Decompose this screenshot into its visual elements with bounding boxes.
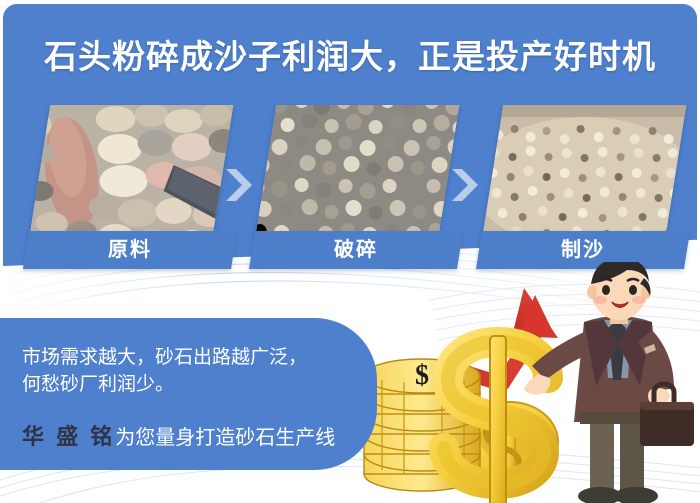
step-label-raw-material: 原料 (23, 231, 237, 269)
step-card-sand-making[interactable]: 制沙 (493, 105, 688, 270)
business-illustration: $ (352, 262, 700, 503)
process-steps: 原料 (0, 105, 700, 270)
crushed-gravel-photo (256, 105, 460, 235)
manufactured-sand-photo (483, 105, 687, 235)
page-title: 石头粉碎成沙子利润大，正是投产好时机 (0, 30, 700, 78)
step-card-raw-material[interactable]: 原料 (40, 105, 235, 270)
step-card-crushing[interactable]: 破碎 (266, 105, 461, 270)
step-label-text: 原料 (26, 231, 234, 269)
chevron-right-icon (224, 167, 254, 203)
poster-canvas: 石头粉碎成沙子利润大，正是投产好时机 (0, 0, 700, 503)
brand-line: 华 盛 铭为您量身打造砂石生产线 (22, 424, 335, 451)
svg-text:$: $ (415, 360, 429, 391)
dollar-sign-large (444, 336, 548, 503)
copy-line-2: 何愁砂厂利润少。 (22, 372, 174, 398)
copy-box: 市场需求越大，砂石出路越广泛， 何愁砂厂利润少。 华 盛 铭为您量身打造砂石生产… (0, 318, 377, 470)
brand-tagline: 为您量身打造砂石生产线 (115, 427, 335, 449)
raw-material-photo (30, 105, 234, 235)
chevron-right-icon (450, 167, 480, 203)
copy-line-1: 市场需求越大，砂石出路越广泛， (22, 345, 307, 371)
coin-dollar-glyph: $ (415, 360, 429, 391)
brand-name: 华 盛 铭 (22, 424, 115, 449)
